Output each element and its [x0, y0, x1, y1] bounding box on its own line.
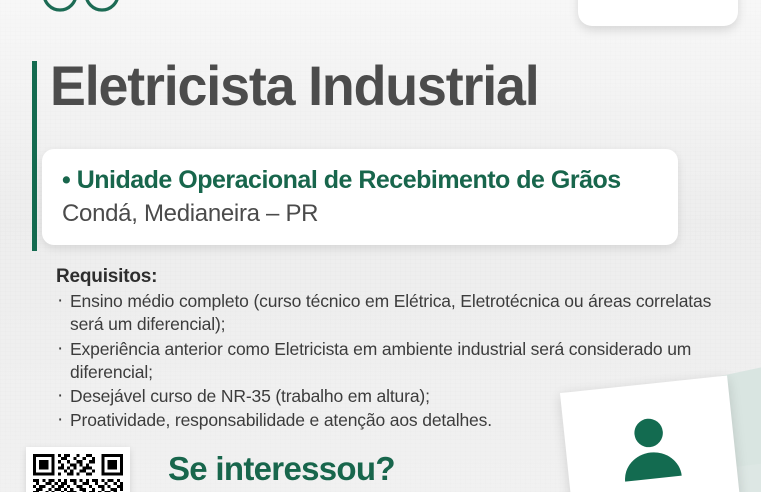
- bullet-icon: •: [62, 166, 70, 194]
- person-avatar-icon: [612, 408, 689, 485]
- brand-badge: BSI: [578, 0, 738, 26]
- profile-card: [560, 376, 740, 492]
- accent-rule: [32, 61, 37, 251]
- location-unit-label: Unidade Operacional de Recebimento de Gr…: [77, 166, 621, 194]
- list-item: Experiência anterior como Eletricista em…: [56, 338, 724, 385]
- qr-code-graphic: [33, 454, 123, 492]
- location-card: • Unidade Operacional de Recebimento de …: [42, 149, 678, 245]
- cta-text: Se interessou?: [168, 450, 395, 488]
- list-item: Ensino médio completo (curso técnico em …: [56, 290, 724, 337]
- bsi-outline-logo-icon: [30, 0, 178, 38]
- location-unit: • Unidade Operacional de Recebimento de …: [62, 167, 656, 195]
- requirements-heading: Requisitos:: [56, 266, 724, 288]
- page-title: Eletricista Industrial: [50, 58, 684, 114]
- qr-code-icon[interactable]: [26, 447, 130, 492]
- location-city: Condá, Medianeira – PR: [62, 200, 656, 228]
